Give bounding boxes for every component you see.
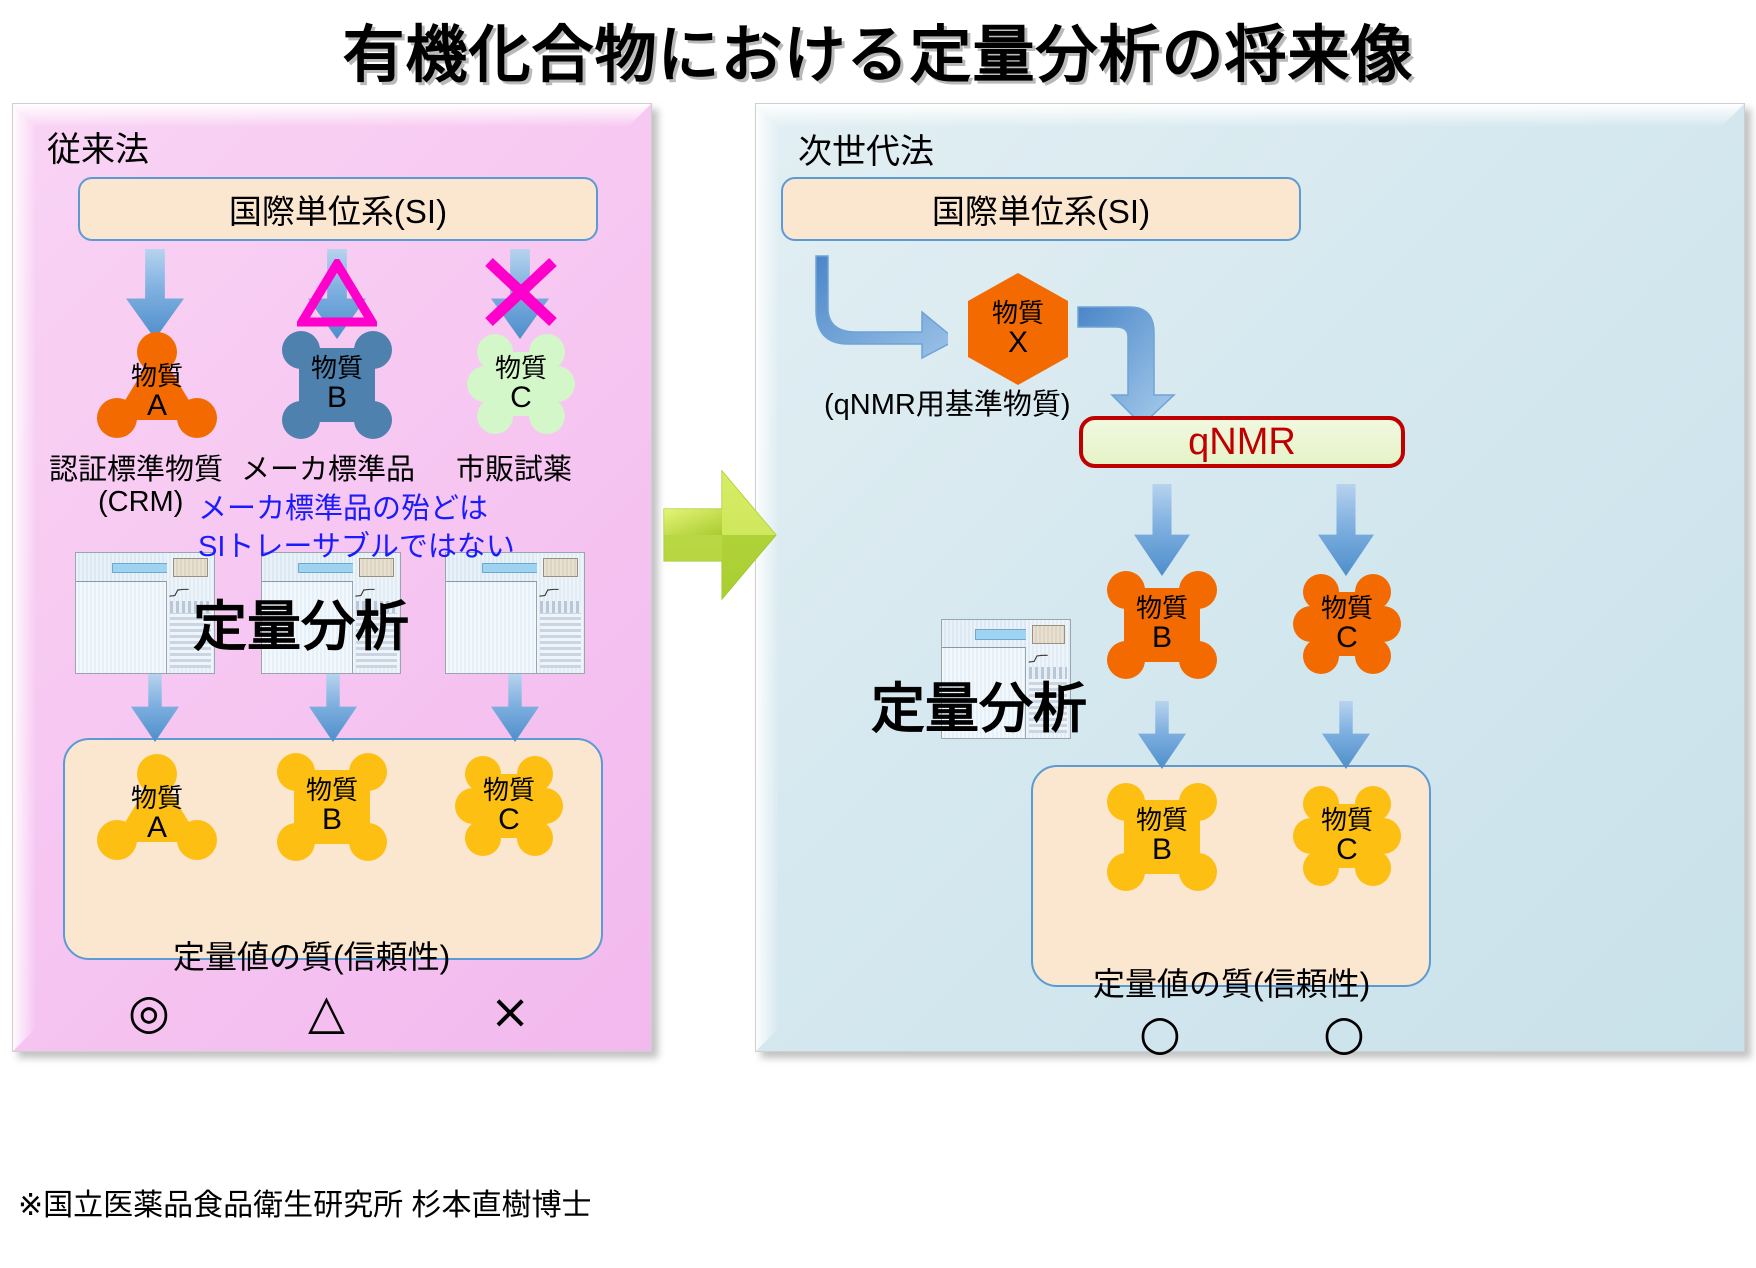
note-not-si-traceable-line2: SIトレーサブルではない — [198, 523, 515, 565]
cross-magenta-icon — [481, 256, 561, 328]
molecule-substance-a: 物質 A — [101, 334, 213, 434]
quality-symbol-c-right: ○ — [1323, 1009, 1365, 1057]
analysis-label-left: 定量分析 — [193, 582, 409, 661]
arrow-analysis-to-result-b-right — [1138, 701, 1186, 769]
quality-title-left: 定量値の質(信頼性) — [173, 932, 450, 978]
molecule-substance-b: 物質 B — [281, 332, 393, 436]
arrow-substance-x-to-qnmr — [1076, 299, 1196, 427]
molecule-substance-c: 物質 C — [465, 332, 577, 436]
transition-arrow-icon — [660, 465, 780, 605]
molecule-substance-x: 物質 X — [956, 267, 1080, 391]
analysis-label-right: 定量分析 — [871, 664, 1087, 743]
quality-symbol-a: ◎ — [128, 988, 170, 1036]
triangle-magenta-icon — [297, 259, 377, 327]
reference-substance-caption: (qNMR用基準物質) — [824, 381, 1071, 423]
si-box-right: 国際単位系(SI) — [781, 177, 1301, 241]
arrow-qnmr-to-substance-b — [1134, 484, 1190, 576]
molecule-qnmr-substance-b: 物質 B — [1106, 572, 1218, 676]
result-molecule-c: 物質 C — [453, 754, 565, 858]
next-generation-method-panel: 次世代法 国際単位系(SI) 物質 X (qNMR用基準物 — [755, 103, 1745, 1052]
panel-label-conventional: 従来法 — [47, 122, 149, 171]
conventional-method-panel: 従来法 国際単位系(SI) — [12, 103, 652, 1052]
qnmr-box: qNMR — [1079, 416, 1405, 468]
panel-label-next-gen: 次世代法 — [798, 124, 934, 173]
caption-substance-c: 市販試薬 — [456, 446, 572, 488]
arrow-analysis-to-result-c-right — [1322, 701, 1370, 769]
si-box-left: 国際単位系(SI) — [78, 177, 598, 241]
result-molecule-c-right: 物質 C — [1291, 784, 1403, 888]
molecule-qnmr-substance-c: 物質 C — [1291, 572, 1403, 676]
arrow-qnmr-to-substance-c — [1318, 484, 1374, 576]
result-molecule-b: 物質 B — [276, 754, 388, 858]
quality-title-right: 定量値の質(信頼性) — [1093, 959, 1370, 1005]
arrow-si-to-substance-x — [806, 252, 948, 360]
quality-symbol-b: △ — [308, 988, 345, 1036]
caption-substance-b: メーカ標準品 — [241, 446, 415, 488]
arrow-analysis-to-result-b — [309, 674, 357, 742]
instrument-image-c — [445, 552, 585, 674]
arrow-si-to-substance-a — [126, 249, 184, 339]
page-title: 有機化合物における定量分析の将来像 — [0, 4, 1756, 94]
arrow-analysis-to-result-c — [491, 674, 539, 742]
caption-substance-a: 認証標準物質 — [49, 446, 223, 488]
caption-substance-a-crm: (CRM) — [98, 486, 183, 519]
quality-symbol-c: × — [490, 988, 530, 1036]
footnote-attribution: ※国立医薬品食品衛生研究所 杉本直樹博士 — [18, 1180, 591, 1224]
arrow-analysis-to-result-a — [131, 674, 179, 742]
result-molecule-a: 物質 A — [101, 756, 213, 856]
note-not-si-traceable-line1: メーカ標準品の殆どは — [198, 485, 488, 527]
result-molecule-b-right: 物質 B — [1106, 784, 1218, 888]
quality-symbol-b-right: ○ — [1139, 1009, 1181, 1057]
